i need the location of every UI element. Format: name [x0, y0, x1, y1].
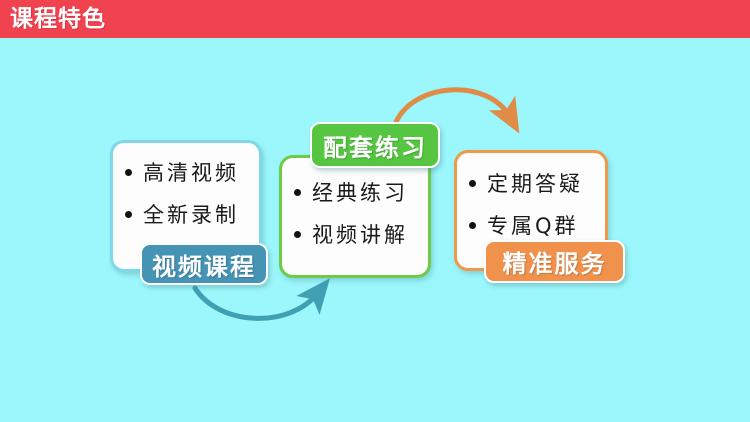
- page-title: 课程特色: [10, 6, 106, 33]
- tag-label: 配套练习: [323, 128, 427, 163]
- list-item: 专属Q群: [457, 213, 605, 239]
- bullet-dot-icon: [125, 169, 132, 176]
- card-video-bullet-list: 高清视频 全新录制: [113, 160, 259, 244]
- bullet-dot-icon: [469, 180, 476, 187]
- list-item: 视频讲解: [282, 222, 428, 248]
- bullet-dot-icon: [469, 222, 476, 229]
- list-item: 定期答疑: [457, 171, 605, 197]
- list-item-label: 高清视频: [143, 161, 239, 185]
- tag-label: 视频课程: [152, 247, 256, 282]
- tag-label: 精准服务: [503, 244, 607, 279]
- tag-video-course[interactable]: 视频课程: [140, 243, 268, 285]
- list-item: 经典练习: [282, 180, 428, 206]
- list-item-label: 视频讲解: [312, 223, 408, 247]
- bullet-dot-icon: [294, 189, 301, 196]
- tag-exercise[interactable]: 配套练习: [310, 122, 440, 168]
- list-item: 全新录制: [113, 202, 259, 228]
- bullet-dot-icon: [294, 231, 301, 238]
- list-item-label: 定期答疑: [487, 172, 583, 196]
- card-exercise-bullet-list: 经典练习 视频讲解: [282, 180, 428, 264]
- list-item-label: 经典练习: [312, 181, 408, 205]
- arrow-video-to-exercise: [195, 288, 318, 318]
- list-item-label: 专属Q群: [487, 214, 579, 238]
- header-banner: 课程特色: [0, 0, 750, 38]
- tag-service[interactable]: 精准服务: [484, 240, 625, 283]
- card-exercise[interactable]: 经典练习 视频讲解: [279, 155, 431, 278]
- slide-canvas: 课程特色 高清视频 全新录制 视频课程: [0, 0, 750, 422]
- list-item: 高清视频: [113, 160, 259, 186]
- list-item-label: 全新录制: [143, 203, 239, 227]
- arrow-exercise-to-service: [396, 90, 510, 122]
- bullet-dot-icon: [125, 211, 132, 218]
